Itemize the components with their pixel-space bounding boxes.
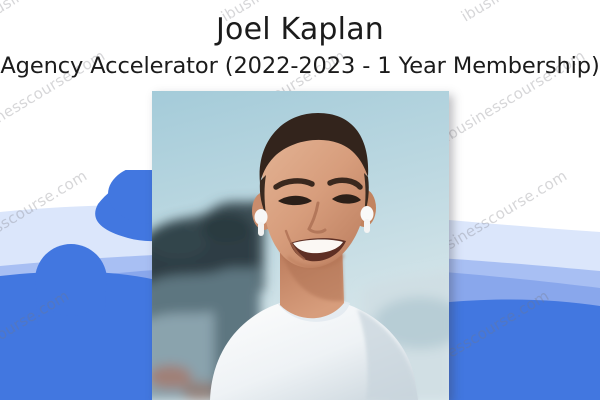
page-subtitle: Agency Accelerator (2022-2023 - 1 Year M… (0, 49, 600, 80)
header: Joel Kaplan Agency Accelerator (2022-202… (0, 0, 600, 80)
page-root: Joel Kaplan Agency Accelerator (2022-202… (0, 0, 600, 400)
page-title: Joel Kaplan (0, 0, 600, 49)
portrait-photo (152, 91, 449, 400)
blob-lower-left-cap (35, 244, 107, 316)
